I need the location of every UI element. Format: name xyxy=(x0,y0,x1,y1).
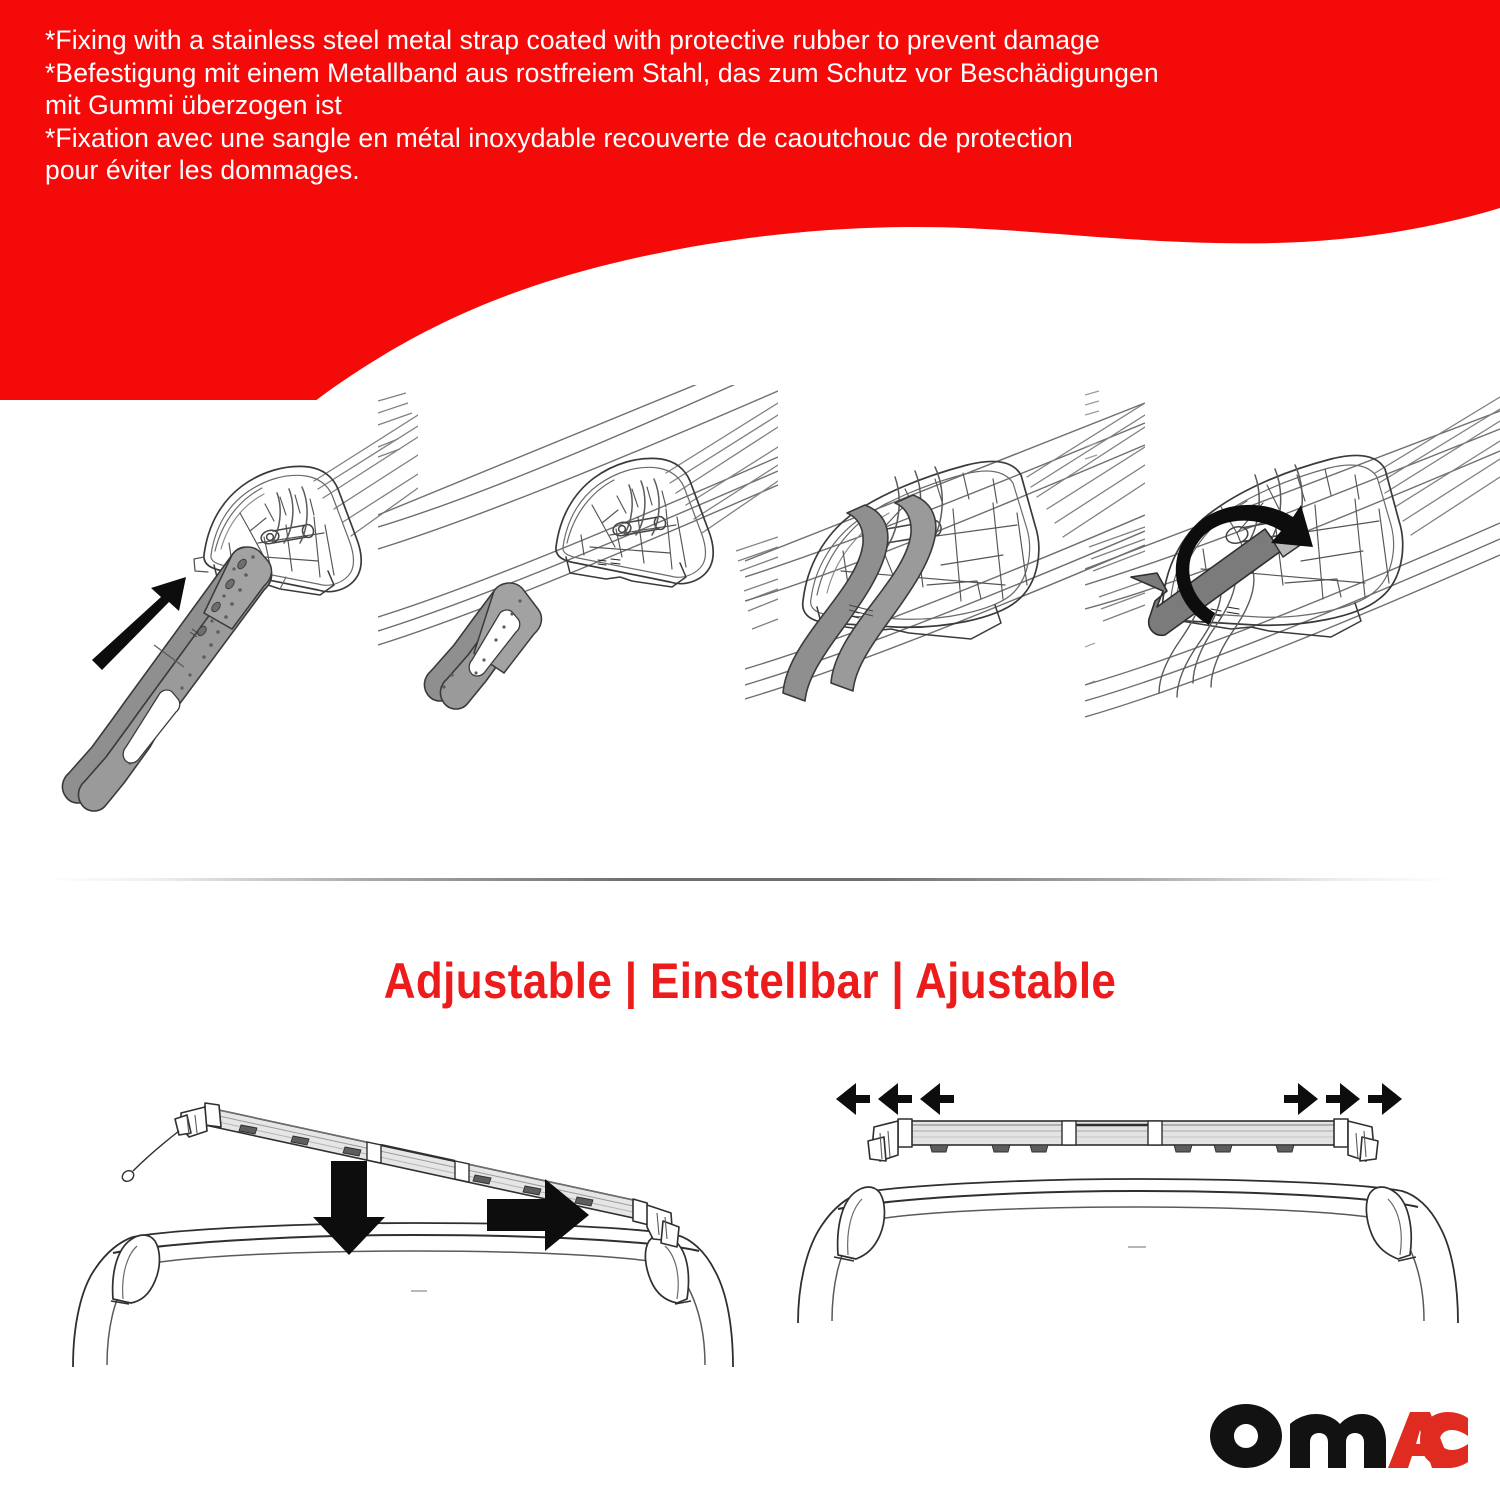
roof-side-rail xyxy=(1085,411,1500,717)
roof-rail-right xyxy=(1366,1187,1416,1261)
crossbar-right-foot xyxy=(1334,1119,1378,1161)
crossbar-left-foot xyxy=(868,1119,912,1161)
diagram-crossbar-width-adjust xyxy=(790,1075,1470,1400)
crossbar-right-foot xyxy=(633,1199,679,1247)
product-infographic-page: *Fixing with a stainless steel metal str… xyxy=(0,0,1500,1500)
banner-description-text: *Fixing with a stainless steel metal str… xyxy=(45,24,1465,187)
roof-rail-left xyxy=(834,1187,885,1261)
section-divider xyxy=(45,878,1455,881)
logo-ac-red xyxy=(1388,1412,1468,1468)
crossbar-left-fragment xyxy=(1085,391,1099,685)
logo-om-black xyxy=(1210,1404,1386,1468)
safety-wire xyxy=(120,1131,179,1184)
bottom-diagrams xyxy=(0,1075,1500,1395)
crossbar-left-fragment xyxy=(378,393,412,457)
diagram-crossbar-placement xyxy=(55,1075,755,1400)
crossbar-horizontal xyxy=(868,1119,1378,1161)
down-arrow xyxy=(313,1161,385,1255)
red-banner: *Fixing with a stainless steel metal str… xyxy=(0,0,1500,400)
step-2-strap-under-rail xyxy=(378,385,778,865)
wrapped-straps xyxy=(783,495,936,701)
metal-strap xyxy=(424,583,541,709)
step-1-insert-strap xyxy=(18,385,418,865)
triple-left-arrow xyxy=(836,1083,954,1115)
triple-right-arrow xyxy=(1284,1083,1402,1115)
crossbar-left-foot xyxy=(175,1103,221,1137)
omac-logo xyxy=(1210,1400,1468,1472)
installation-steps xyxy=(0,385,1500,865)
adjustable-heading: Adjustable | Einstellbar | Ajustable xyxy=(90,952,1410,1010)
crossbar-tilted xyxy=(175,1103,679,1247)
step-4-tighten xyxy=(1085,385,1500,865)
